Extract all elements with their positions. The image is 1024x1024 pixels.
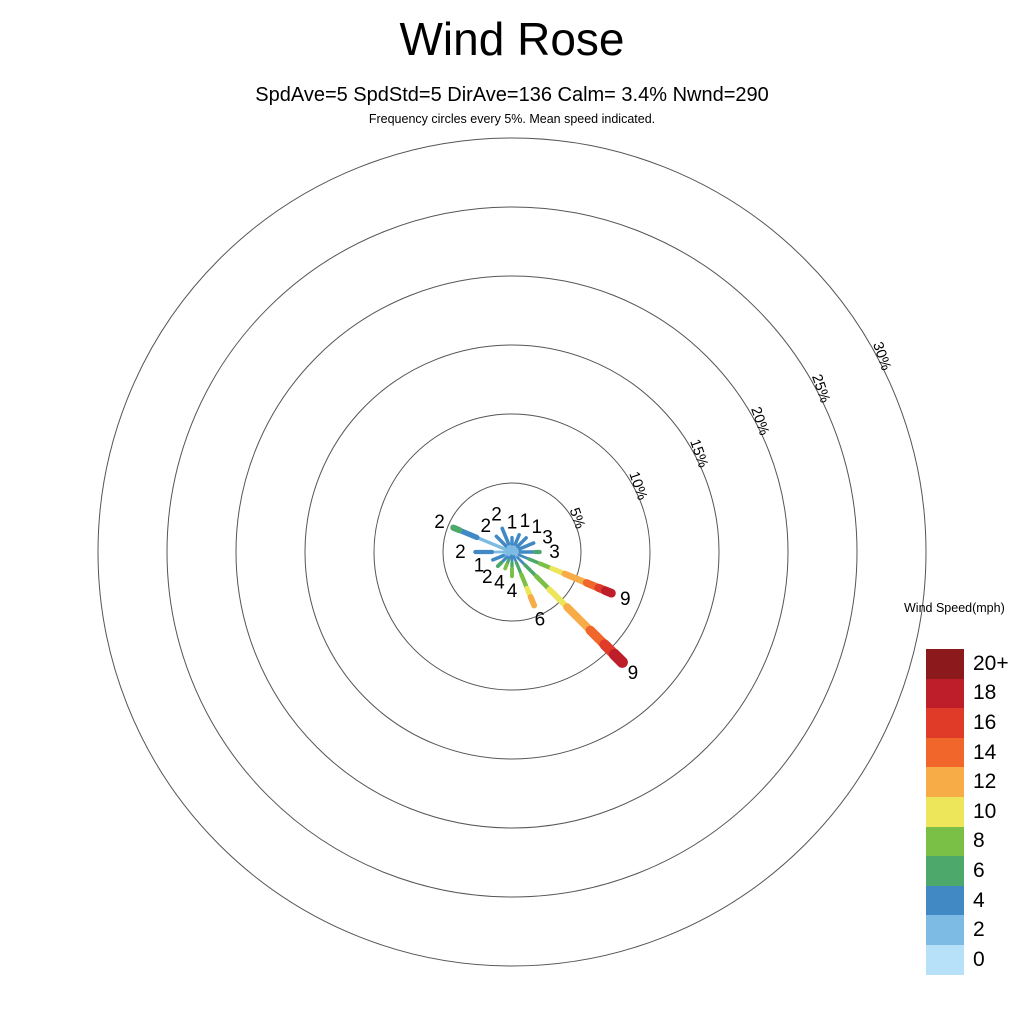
legend-row: 16 bbox=[926, 708, 1009, 738]
ring-label: 15% bbox=[686, 437, 711, 470]
legend-row: 14 bbox=[926, 738, 1009, 768]
petal-segment bbox=[493, 556, 504, 560]
petal-segment bbox=[567, 607, 590, 630]
legend-row: 8 bbox=[926, 827, 1009, 857]
legend-label: 20+ bbox=[973, 652, 1009, 676]
petal-mean-speed-label: 2 bbox=[491, 505, 502, 526]
legend-color-swatch bbox=[926, 649, 964, 679]
legend-row: 4 bbox=[926, 886, 1009, 916]
legend-label: 16 bbox=[973, 711, 996, 735]
ring-label: 20% bbox=[747, 405, 772, 438]
wind-rose-plot: 5%10%15%20%25%30%1113399644212222 bbox=[0, 0, 1024, 1024]
legend-row: 10 bbox=[926, 797, 1009, 827]
ring-label: 10% bbox=[625, 470, 650, 503]
legend-row: 2 bbox=[926, 915, 1009, 945]
legend-color-swatch bbox=[926, 856, 964, 886]
legend-color-swatch bbox=[926, 886, 964, 916]
petal-mean-speed-label: 2 bbox=[480, 516, 491, 537]
legend-color-swatch bbox=[926, 767, 964, 797]
petal-mean-speed-label: 1 bbox=[531, 517, 542, 538]
legend-title: Wind Speed(mph) bbox=[904, 601, 1024, 615]
legend-entries: 20+181614121086420 bbox=[926, 649, 1009, 975]
legend-label: 14 bbox=[973, 741, 996, 765]
legend-label: 2 bbox=[973, 918, 985, 942]
petal bbox=[512, 552, 622, 662]
petal-mean-speed-label: 4 bbox=[494, 572, 505, 593]
legend-color-swatch bbox=[926, 827, 964, 857]
legend-label: 4 bbox=[973, 889, 985, 913]
legend-row: 20+ bbox=[926, 649, 1009, 679]
petal-mean-speed-label: 2 bbox=[434, 512, 445, 533]
petal-mean-speed-label: 1 bbox=[520, 511, 531, 532]
petal-mean-speed-label: 9 bbox=[620, 589, 631, 610]
petal-mean-speed-label: 4 bbox=[507, 581, 518, 602]
legend-label: 8 bbox=[973, 829, 985, 853]
legend-color-swatch bbox=[926, 915, 964, 945]
legend-label: 0 bbox=[973, 948, 985, 972]
petal-mean-speed-label: 1 bbox=[507, 513, 518, 534]
ring-label: 30% bbox=[869, 340, 894, 373]
ring-labels: 5%10%15%20%25%30% bbox=[566, 340, 894, 531]
ring-label: 25% bbox=[808, 372, 833, 405]
petal-mean-speed-label: 9 bbox=[628, 663, 639, 684]
legend-color-swatch bbox=[926, 708, 964, 738]
petal-mean-speed-label: 1 bbox=[474, 556, 485, 577]
legend-label: 6 bbox=[973, 859, 985, 883]
legend-color-swatch bbox=[926, 679, 964, 709]
legend-row: 0 bbox=[926, 945, 1009, 975]
legend-label: 10 bbox=[973, 800, 996, 824]
legend-row: 18 bbox=[926, 679, 1009, 709]
legend-row: 6 bbox=[926, 856, 1009, 886]
petal-segment bbox=[515, 535, 519, 544]
petal-mean-speed-label: 6 bbox=[535, 609, 546, 630]
petal-segment bbox=[531, 597, 535, 606]
petal-mean-speed-label: 3 bbox=[549, 542, 560, 563]
legend-color-swatch bbox=[926, 738, 964, 768]
wind-rose-page: Wind Rose SpdAve=5 SpdStd=5 DirAve=136 C… bbox=[0, 0, 1024, 1024]
ring-label: 5% bbox=[566, 506, 588, 531]
legend-color-swatch bbox=[926, 797, 964, 827]
legend-color-swatch bbox=[926, 945, 964, 975]
legend: Wind Speed(mph) 20+181614121086420 bbox=[900, 601, 1024, 615]
petal-segment bbox=[605, 591, 611, 593]
petals bbox=[453, 528, 622, 663]
legend-label: 18 bbox=[973, 681, 996, 705]
petal-segment bbox=[505, 564, 507, 568]
petal-mean-speed-label: 2 bbox=[455, 542, 466, 563]
petal-segment bbox=[498, 563, 502, 567]
petal-segment bbox=[453, 528, 459, 530]
petal-segment bbox=[615, 655, 623, 663]
legend-row: 12 bbox=[926, 767, 1009, 797]
legend-label: 12 bbox=[973, 770, 996, 794]
